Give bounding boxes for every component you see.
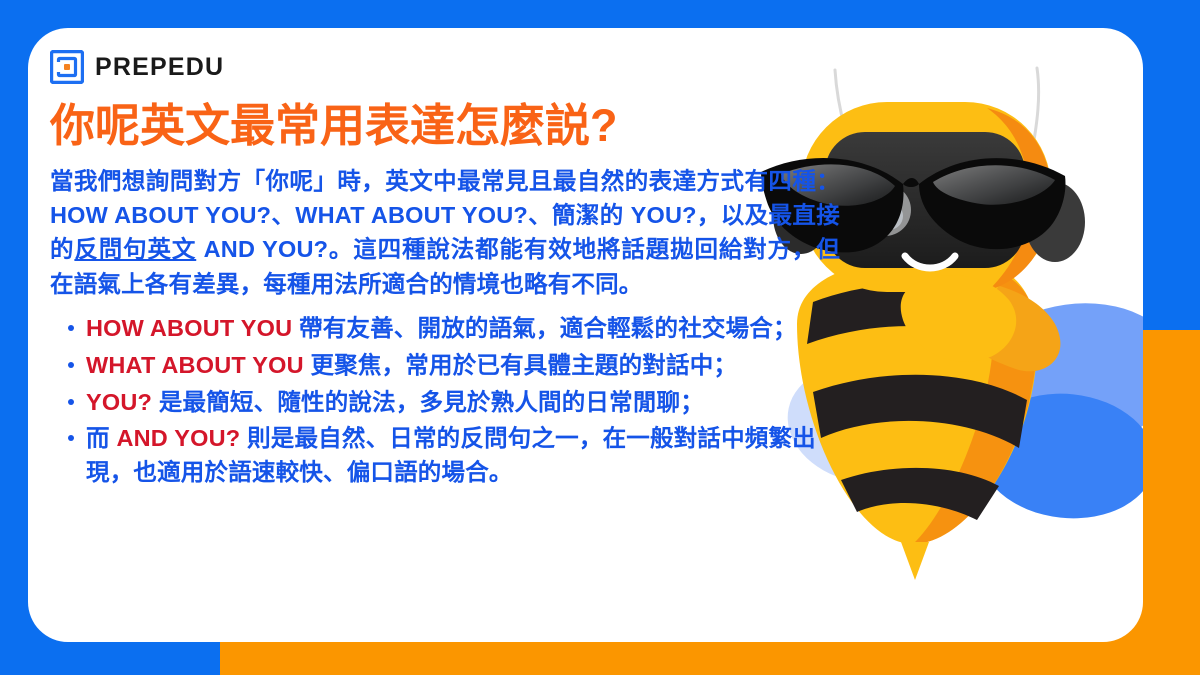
usage-list: HOW ABOUT YOU 帶有友善、開放的語氣，適合輕鬆的社交場合； WHAT… <box>50 312 840 490</box>
inline-link-reverse-question[interactable]: 反問句英文 <box>74 236 196 262</box>
content-card: PREPEDU 你呢英文最常用表達怎麼説? 當我們想詢問對方「你呢」時，英文中最… <box>28 28 1143 642</box>
article-content: 你呢英文最常用表達怎麼説? 當我們想詢問對方「你呢」時，英文中最常見且最自然的表… <box>50 100 840 493</box>
intro-paragraph: 當我們想詢問對方「你呢」時，英文中最常見且最自然的表達方式有四種：HOW ABO… <box>50 164 840 301</box>
brand-logo[interactable]: PREPEDU <box>50 50 224 84</box>
infographic-canvas: PREPEDU 你呢英文最常用表達怎麼説? 當我們想詢問對方「你呢」時，英文中最… <box>0 0 1200 675</box>
page-title: 你呢英文最常用表達怎麼説? <box>50 100 840 152</box>
list-item: YOU? 是最簡短、隨性的說法，多見於熟人間的日常閒聊； <box>84 386 840 420</box>
list-item: 而 AND YOU? 則是最自然、日常的反問句之一，在一般對話中頻繁出現，也適用… <box>84 422 840 490</box>
prepedu-logo-icon <box>50 50 84 84</box>
bee-arm <box>887 241 1060 371</box>
list-item-phrase: YOU? <box>86 389 152 415</box>
list-item: WHAT ABOUT YOU 更聚焦，常用於已有具體主題的對話中； <box>84 349 840 383</box>
bee-antennae <box>835 68 1039 164</box>
list-item-description: 帶有友善、開放的語氣，適合輕鬆的社交場合； <box>292 315 796 341</box>
list-item-phrase: WHAT ABOUT YOU <box>86 352 304 378</box>
list-item: HOW ABOUT YOU 帶有友善、開放的語氣，適合輕鬆的社交場合； <box>84 312 840 346</box>
list-item-description: 更聚焦，常用於已有具體主題的對話中； <box>304 352 737 378</box>
list-item-description: 是最簡短、隨性的說法，多見於熟人間的日常閒聊； <box>152 389 704 415</box>
list-item-phrase: AND YOU? <box>116 425 240 451</box>
brand-name: PREPEDU <box>95 55 224 80</box>
list-item-phrase: HOW ABOUT YOU <box>86 315 292 341</box>
list-item-lead: 而 <box>86 425 116 451</box>
